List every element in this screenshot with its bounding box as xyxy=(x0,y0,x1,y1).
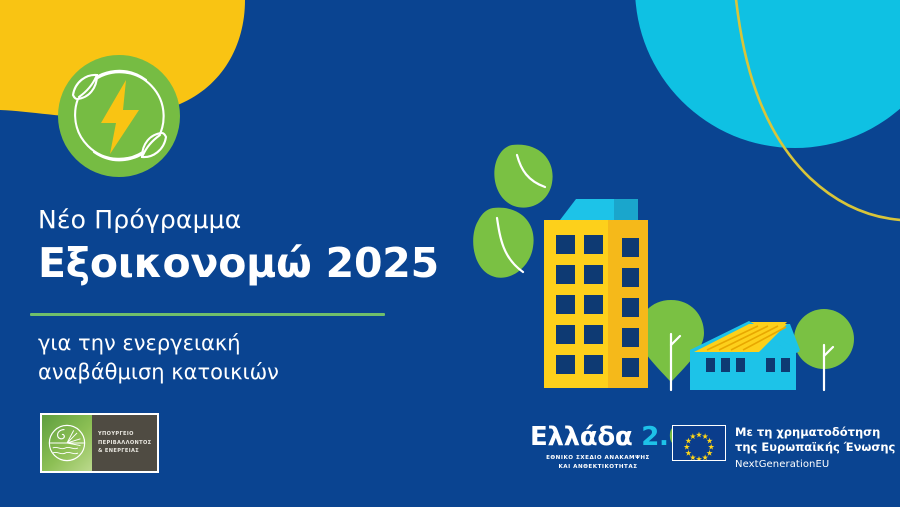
ellada-wordmark: Ελλάδα 2.0 xyxy=(530,424,666,450)
ministry-logo-text: ΥΠΟΥΡΓΕΙΟ ΠΕΡΙΒΑΛΛΟΝΤΟΣ & ΕΝΕΡΓΕΙΑΣ xyxy=(92,415,157,471)
ellada-word: Ελλάδα xyxy=(530,422,632,452)
eu-funding-logo: Με τη χρηματοδότηση της Ευρωπαϊκής Ένωση… xyxy=(672,425,895,470)
ministry-line-2: ΠΕΡΙΒΑΛΛΟΝΤΟΣ xyxy=(98,439,157,448)
subtitle-block: για την ενεργειακή αναβάθμιση κατοικιών xyxy=(38,329,378,387)
ellada-tagline-line-1: ΕΘΝΙΚΟ ΣΧΕΔΙΟ ΑΝΑΚΑΜΨΗΣ xyxy=(530,454,666,463)
eu-funding-line-1: Με τη χρηματοδότηση xyxy=(735,425,895,440)
eu-funding-text: Με τη χρηματοδότηση της Ευρωπαϊκής Ένωση… xyxy=(735,425,895,470)
exoikonomo-2025-banner: Νέο Πρόγραμμα Εξοικονομώ 2025 για την εν… xyxy=(0,0,900,507)
ellada-version-number: 2. xyxy=(641,422,668,452)
eu-programme-name: NextGenerationEU xyxy=(735,459,895,470)
ministry-line-3: & ΕΝΕΡΓΕΙΑΣ xyxy=(98,447,157,456)
eu-flag-icon xyxy=(672,425,726,461)
headline-block: Νέο Πρόγραμμα Εξοικονομώ 2025 xyxy=(38,206,458,287)
ellada-tagline: ΕΘΝΙΚΟ ΣΧΕΔΙΟ ΑΝΑΚΑΜΨΗΣ ΚΑΙ ΑΝΘΕΚΤΙΚΟΤΗΤ… xyxy=(530,454,666,472)
title-divider xyxy=(30,313,385,316)
eyebrow-text: Νέο Πρόγραμμα xyxy=(38,206,458,234)
ministry-logo: ΥΠΟΥΡΓΕΙΟ ΠΕΡΙΒΑΛΛΟΝΤΟΣ & ΕΝΕΡΓΕΙΑΣ xyxy=(40,413,159,473)
subtitle-line-1: για την ενεργειακή xyxy=(38,329,378,358)
ministry-emblem-icon xyxy=(42,415,92,471)
page-title: Εξοικονομώ 2025 xyxy=(38,240,458,287)
ellada-tagline-line-2: ΚΑΙ ΑΝΘΕΚΤΙΚΟΤΗΤΑΣ xyxy=(530,463,666,472)
ellada-2-0-logo: Ελλάδα 2.0 ΕΘΝΙΚΟ ΣΧΕΔΙΟ ΑΝΑΚΑΜΨΗΣ ΚΑΙ Α… xyxy=(530,424,666,472)
ministry-line-1: ΥΠΟΥΡΓΕΙΟ xyxy=(98,430,157,439)
subtitle-line-2: αναβάθμιση κατοικιών xyxy=(38,358,378,387)
eu-funding-line-2: της Ευρωπαϊκής Ένωσης xyxy=(735,440,895,455)
